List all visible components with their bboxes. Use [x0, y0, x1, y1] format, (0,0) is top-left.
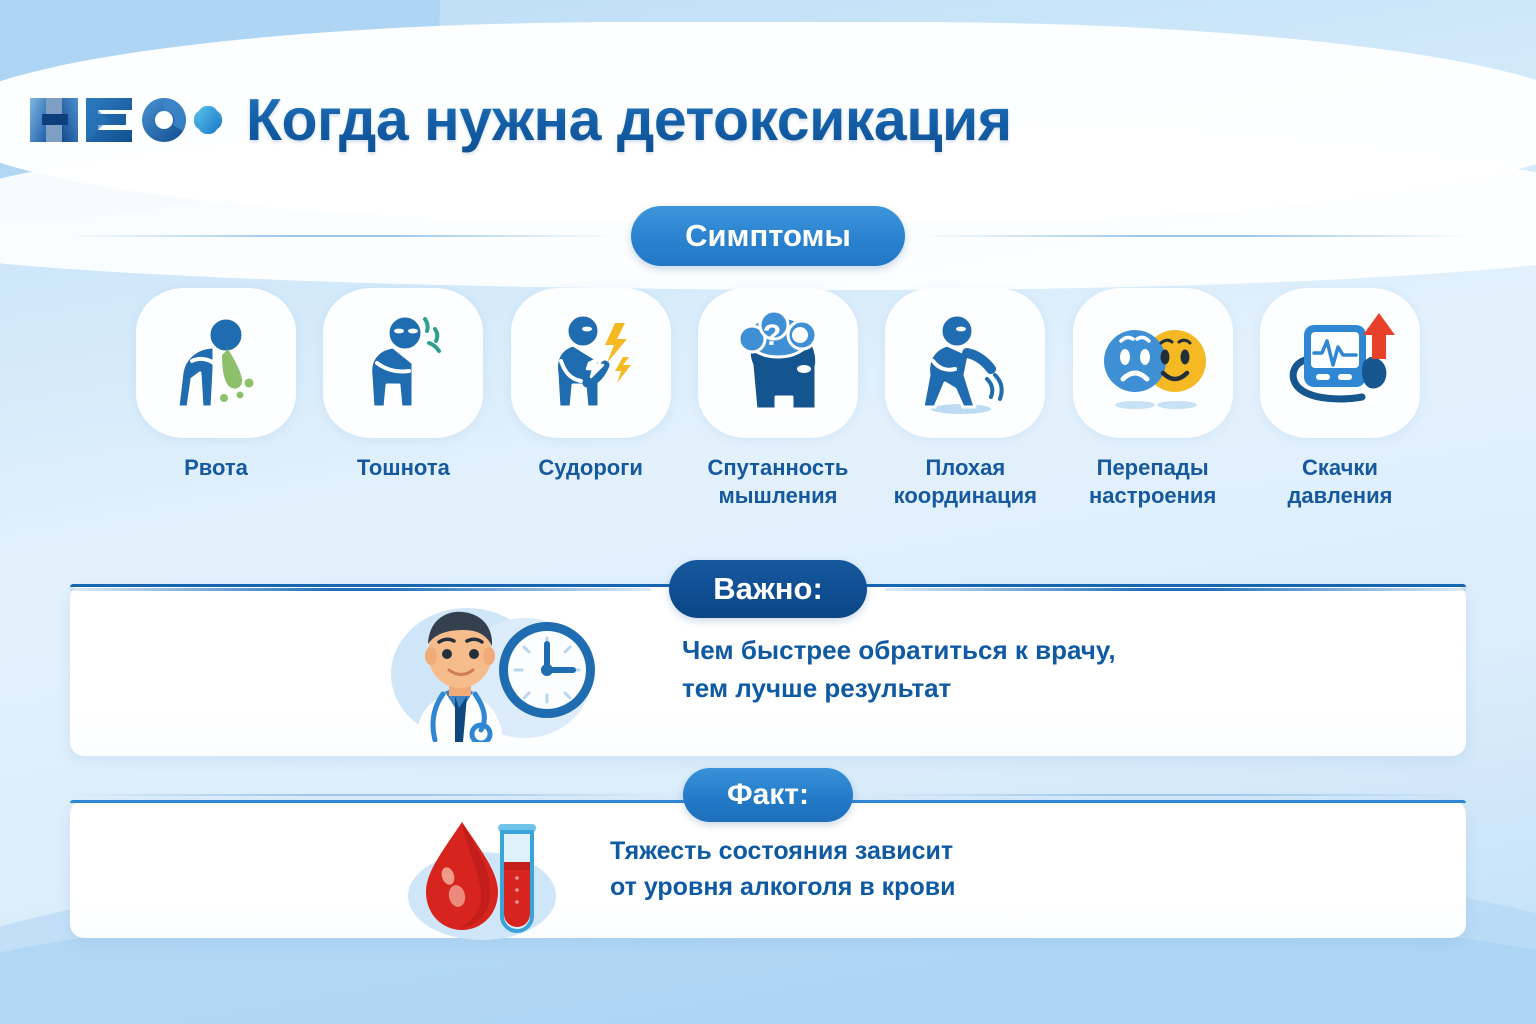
symptom-label: Спутанность мышления: [708, 454, 849, 510]
vomiting-person-icon: [156, 303, 276, 423]
nausea-person-icon: [343, 303, 463, 423]
important-text-line2: тем лучше результат: [682, 670, 1116, 708]
section-header-symptoms: Симптомы: [70, 206, 1466, 266]
symptom-card: [136, 288, 296, 438]
svg-text:?: ?: [763, 319, 781, 352]
divider-right: [923, 235, 1466, 237]
fact-text-line1: Тяжесть состояния зависит: [610, 833, 955, 869]
divider-right: [871, 794, 1466, 796]
symptoms-list: Рвота: [128, 288, 1428, 510]
confused-head-icon: ?: [716, 303, 840, 423]
divider-left: [70, 588, 651, 591]
symptom-item-mood-swings[interactable]: Перепады настроения: [1065, 288, 1241, 510]
symptom-card: [885, 288, 1045, 438]
symptom-item-vomiting[interactable]: Рвота: [128, 288, 304, 510]
symptom-card: [511, 288, 671, 438]
symptom-card: [1073, 288, 1233, 438]
symptom-item-cramps[interactable]: Судороги: [503, 288, 679, 510]
symptom-card: [1260, 288, 1420, 438]
infographic-poster: Когда нужна детоксикация Симптомы: [0, 0, 1536, 1024]
symptom-label: Скачки давления: [1287, 454, 1392, 510]
symptom-label-line2: мышления: [718, 483, 837, 508]
symptom-item-nausea[interactable]: Тошнота: [315, 288, 491, 510]
symptom-label: Рвота: [184, 454, 248, 482]
symptom-label: Судороги: [538, 454, 643, 482]
poster-header: Когда нужна детоксикация: [0, 80, 1536, 160]
symptom-item-confusion[interactable]: ? Спутанность мышления: [690, 288, 866, 510]
symptom-label-line1: Скачки: [1302, 455, 1378, 480]
symptom-label-line2: координация: [894, 483, 1037, 508]
divider-right: [885, 588, 1466, 591]
divider-left: [70, 794, 665, 796]
important-text: Чем быстрее обратиться к врачу, тем лучш…: [682, 632, 1116, 707]
section-badge-fact: Факт:: [683, 768, 853, 822]
divider-left: [70, 235, 613, 237]
cramps-person-icon: [531, 303, 651, 423]
symptom-label-line1: Перепады: [1097, 455, 1209, 480]
symptom-label-line1: Спутанность: [708, 455, 849, 480]
symptom-item-blood-pressure[interactable]: Скачки давления: [1252, 288, 1428, 510]
fact-text: Тяжесть состояния зависит от уровня алко…: [610, 833, 955, 906]
poor-coordination-person-icon: [903, 303, 1027, 423]
blood-drop-and-test-tube-illustration: [400, 806, 585, 946]
symptom-card: ?: [698, 288, 858, 438]
section-badge-symptoms: Симптомы: [631, 206, 905, 266]
symptom-label-line2: настроения: [1089, 483, 1216, 508]
section-header-fact: Факт:: [70, 768, 1466, 822]
symptom-card: [323, 288, 483, 438]
symptom-label: Плохая координация: [894, 454, 1037, 510]
page-title: Когда нужна детоксикация: [246, 86, 1012, 154]
symptom-label-line1: Плохая: [925, 455, 1005, 480]
fact-text-line2: от уровня алкоголя в крови: [610, 869, 955, 905]
symptom-item-poor-coordination[interactable]: Плохая координация: [877, 288, 1053, 510]
symptom-label: Перепады настроения: [1089, 454, 1216, 510]
important-text-line1: Чем быстрее обратиться к врачу,: [682, 632, 1116, 670]
section-badge-important: Важно:: [669, 560, 867, 618]
mood-swings-faces-icon: [1091, 303, 1215, 423]
neo-plus-logo: [28, 91, 224, 149]
symptom-label-line2: давления: [1287, 483, 1392, 508]
symptom-label: Тошнота: [357, 454, 450, 482]
blood-pressure-monitor-icon: [1278, 303, 1402, 423]
section-header-important: Важно:: [70, 560, 1466, 618]
